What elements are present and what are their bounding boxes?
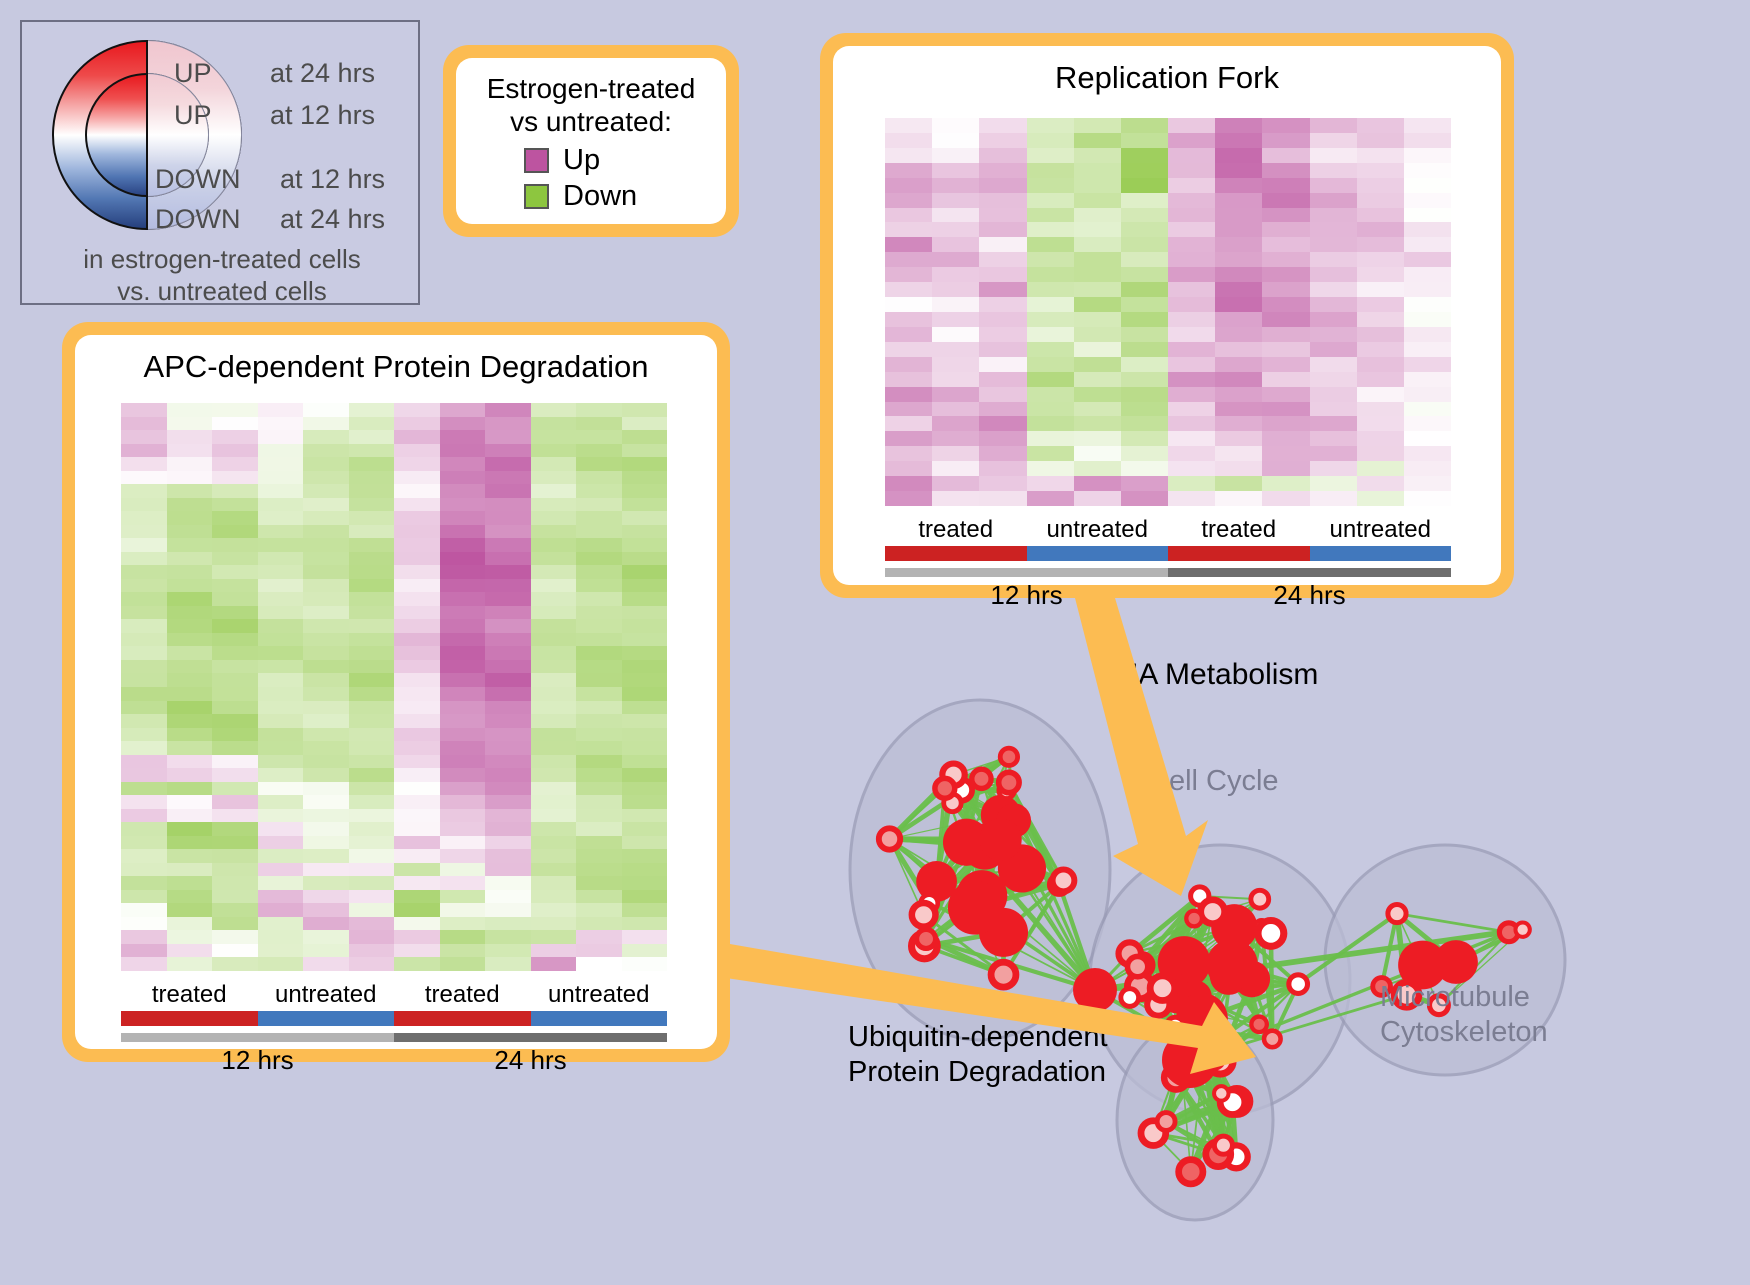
heatmap-cell	[622, 511, 668, 525]
heatmap-cell	[1310, 133, 1357, 148]
heatmap-cell	[1357, 222, 1404, 237]
axis-group-label-rf-1: untreated	[1027, 516, 1169, 544]
heatmap-cell	[258, 606, 304, 620]
legend-swatch-down-icon	[524, 184, 549, 209]
network-node	[1179, 1160, 1203, 1184]
heatmap-cell	[121, 619, 167, 633]
heatmap-cell	[1168, 178, 1215, 193]
axis-time-color-apc-1	[394, 1033, 667, 1042]
heatmap-cell	[394, 457, 440, 471]
heatmap-cell	[394, 930, 440, 944]
heatmap-cell	[576, 903, 622, 917]
heatmap-cell	[167, 552, 213, 566]
network-node	[1264, 1031, 1281, 1048]
heatmap-cell	[622, 484, 668, 498]
heatmap-cell	[622, 890, 668, 904]
heatmap-cell	[167, 471, 213, 485]
heatmap-cell	[1262, 461, 1309, 476]
heatmap-cell	[485, 525, 531, 539]
heatmap-cell	[440, 606, 486, 620]
heatmap-cell	[1215, 476, 1262, 491]
heatmap-cell	[121, 552, 167, 566]
heatmap-cell	[258, 511, 304, 525]
heatmap-cell	[394, 633, 440, 647]
heatmap-cell	[576, 592, 622, 606]
heatmap-cell	[932, 148, 979, 163]
heatmap-cell	[440, 957, 486, 971]
heatmap-cell	[167, 809, 213, 823]
heatmap-cell	[531, 606, 577, 620]
heatmap-cell	[303, 782, 349, 796]
heatmap-cell	[167, 592, 213, 606]
heatmap-cell	[303, 836, 349, 850]
heatmap-cell	[440, 471, 486, 485]
heatmap-cell	[303, 863, 349, 877]
heatmap-cell	[440, 660, 486, 674]
heatmap-cell	[167, 619, 213, 633]
heatmap-cell	[394, 619, 440, 633]
heatmap-cell	[622, 944, 668, 958]
heatmap-cell	[258, 525, 304, 539]
heatmap-cell	[885, 491, 932, 506]
legend-label-down: Down	[563, 180, 637, 213]
heatmap-cell	[303, 768, 349, 782]
heatmap-cell	[1357, 237, 1404, 252]
heatmap-cell	[303, 525, 349, 539]
heatmap-cell	[121, 822, 167, 836]
heatmap-cell	[576, 782, 622, 796]
heatmap-cell	[979, 297, 1026, 312]
heatmap-cell	[212, 619, 258, 633]
heatmap-cell	[622, 863, 668, 877]
heatmap-cell	[440, 930, 486, 944]
heatmap-cell	[167, 484, 213, 498]
heatmap-cell	[576, 863, 622, 877]
heatmap-cell	[485, 457, 531, 471]
heatmap-cell	[576, 619, 622, 633]
network-node	[912, 903, 936, 927]
heatmap-cell	[1215, 178, 1262, 193]
heatmap-cell	[885, 282, 932, 297]
heatmap-cell	[485, 917, 531, 931]
heatmap-cell	[1074, 416, 1121, 431]
heatmap-cell	[212, 768, 258, 782]
heatmap-cell	[485, 890, 531, 904]
heatmap-cell	[303, 403, 349, 417]
heatmap-cell	[349, 917, 395, 931]
heatmap-cell	[212, 660, 258, 674]
axis-time-labels-apc: 12 hrs 24 hrs	[121, 1045, 667, 1076]
heatmap-cell	[349, 755, 395, 769]
heatmap-cell	[1074, 282, 1121, 297]
heatmap-cell	[1074, 178, 1121, 193]
heatmap-cell	[1262, 387, 1309, 402]
heatmap-cell	[1027, 193, 1074, 208]
heatmap-cell	[576, 403, 622, 417]
heatmap-cell	[1357, 312, 1404, 327]
heatmap-cell	[167, 444, 213, 458]
heatmap-cell	[1357, 476, 1404, 491]
heatmap-cell	[1262, 267, 1309, 282]
heatmap-cell	[212, 471, 258, 485]
heatmap-cell	[394, 565, 440, 579]
heatmap-cell	[167, 795, 213, 809]
heatmap-cell	[1027, 178, 1074, 193]
heatmap-cell	[258, 917, 304, 931]
heatmap-cell	[1074, 402, 1121, 417]
network-node	[1162, 1032, 1218, 1088]
heatmap-cell	[167, 701, 213, 715]
heatmap-cell	[167, 903, 213, 917]
legend-title-line2: vs untreated:	[456, 105, 726, 138]
heatmap-cell	[932, 178, 979, 193]
heatmap-cell	[440, 863, 486, 877]
heatmap-cell	[1121, 297, 1168, 312]
heatmap-cell	[349, 525, 395, 539]
heatmap-cell	[1074, 461, 1121, 476]
heatmap-cell	[1074, 312, 1121, 327]
heatmap-cell	[622, 430, 668, 444]
heatmap-cell	[485, 552, 531, 566]
heatmap-cell	[1168, 372, 1215, 387]
heatmap-cell	[979, 163, 1026, 178]
network-node	[1186, 911, 1202, 927]
network-node	[1289, 975, 1308, 994]
heatmap-cell	[440, 809, 486, 823]
heatmap-cell	[212, 863, 258, 877]
heatmap-cell	[394, 552, 440, 566]
heatmap-cell	[440, 646, 486, 660]
heatmap-cell	[303, 809, 349, 823]
heatmap-cell	[1027, 148, 1074, 163]
heatmap-cell	[394, 484, 440, 498]
heatmap-cell	[485, 795, 531, 809]
heatmap-cell	[121, 471, 167, 485]
heatmap-cell	[979, 431, 1026, 446]
heatmap-cell	[576, 633, 622, 647]
heatmap-cell	[212, 741, 258, 755]
heatmap-cell	[212, 903, 258, 917]
heatmap-cell	[485, 619, 531, 633]
axis-time-color-rf-0	[885, 568, 1168, 577]
heatmap-cell	[212, 525, 258, 539]
heatmap-cell	[622, 687, 668, 701]
heatmap-cell	[167, 714, 213, 728]
heatmap-cell	[1121, 327, 1168, 342]
heatmap-cell	[349, 876, 395, 890]
heatmap-cell	[1074, 357, 1121, 372]
heatmap-cell	[1168, 133, 1215, 148]
heatmap-cell	[1215, 163, 1262, 178]
heatmap-cell	[576, 498, 622, 512]
network-node	[1127, 956, 1147, 976]
heatmap-cell	[1168, 416, 1215, 431]
figure-canvas: UP at 24 hrs UP at 12 hrs DOWN at 12 hrs…	[0, 0, 1750, 1279]
heatmap-cell	[531, 565, 577, 579]
heatmap-cell	[121, 565, 167, 579]
heatmap-cell	[1121, 446, 1168, 461]
heatmap-cell	[394, 701, 440, 715]
heatmap-cell	[258, 930, 304, 944]
axis-group-label-apc-2: treated	[394, 981, 531, 1009]
heatmap-cell	[303, 755, 349, 769]
network-node	[1251, 1017, 1266, 1032]
heatmap-cell	[1262, 193, 1309, 208]
heatmap-cell	[1404, 252, 1451, 267]
heatmap-cell	[1357, 267, 1404, 282]
axis-group-colorbar-rf	[885, 546, 1451, 561]
heatmap-cell	[258, 579, 304, 593]
heatmap-cell	[440, 903, 486, 917]
heatmap-cell	[622, 876, 668, 890]
heatmap-cell	[932, 252, 979, 267]
heatmap-cell	[979, 357, 1026, 372]
colorbar-footer-line2: vs. untreated cells	[22, 276, 422, 308]
heatmap-cell	[485, 782, 531, 796]
heatmap-cell	[576, 849, 622, 863]
heatmap-cell	[531, 741, 577, 755]
heatmap-cell	[394, 444, 440, 458]
heatmap-cell	[485, 417, 531, 431]
heatmap-cell	[485, 592, 531, 606]
heatmap-cell	[622, 768, 668, 782]
heatmap-cell	[622, 957, 668, 971]
heatmap-cell	[349, 822, 395, 836]
heatmap-cell	[885, 327, 932, 342]
heatmap-cell	[258, 755, 304, 769]
heatmap-cell	[258, 538, 304, 552]
heatmap-cell	[576, 606, 622, 620]
heatmap-cell	[258, 836, 304, 850]
legend-title-line1: Estrogen-treated	[456, 72, 726, 105]
heatmap-cell	[885, 118, 932, 133]
heatmap-cell	[349, 660, 395, 674]
heatmap-cell	[622, 822, 668, 836]
legend-time-down-12: at 12 hrs	[280, 164, 385, 195]
heatmap-cell	[932, 491, 979, 506]
heatmap-cell	[394, 511, 440, 525]
heatmap-cell	[1310, 297, 1357, 312]
heatmap-cell	[212, 403, 258, 417]
heatmap-cell	[167, 836, 213, 850]
heatmap-cell	[1357, 446, 1404, 461]
heatmap-cell	[1404, 446, 1451, 461]
heatmap-cell	[576, 646, 622, 660]
heatmap-cell	[1074, 446, 1121, 461]
axis-group-label-apc-3: untreated	[531, 981, 668, 1009]
heatmap-cell	[531, 403, 577, 417]
heatmap-cell	[1121, 372, 1168, 387]
heatmap-cell	[1404, 118, 1451, 133]
heatmap-cell	[885, 208, 932, 223]
heatmap-cell	[440, 430, 486, 444]
heatmap-cell	[1262, 342, 1309, 357]
heatmap-cell	[1310, 387, 1357, 402]
heatmap-cell	[212, 457, 258, 471]
heatmap-cell	[1215, 267, 1262, 282]
heatmap-replication-fork	[885, 118, 1451, 506]
heatmap-cell	[349, 552, 395, 566]
network-node	[1515, 922, 1529, 936]
heatmap-cell	[885, 237, 932, 252]
heatmap-cell	[1310, 163, 1357, 178]
heatmap-cell	[531, 484, 577, 498]
heatmap-cell	[1310, 446, 1357, 461]
heatmap-cell	[258, 660, 304, 674]
network-svg	[790, 620, 1750, 1280]
heatmap-cell	[576, 525, 622, 539]
heatmap-cell	[1121, 193, 1168, 208]
heatmap-cell	[622, 525, 668, 539]
legend-direction-down-12: DOWN	[155, 164, 240, 195]
heatmap-cell	[576, 471, 622, 485]
heatmap-cell	[212, 552, 258, 566]
heatmap-cell	[440, 728, 486, 742]
heatmap-cell	[349, 417, 395, 431]
heatmap-cell	[303, 930, 349, 944]
heatmap-cell	[1310, 476, 1357, 491]
heatmap-cell	[1357, 193, 1404, 208]
heatmap-cell	[1262, 476, 1309, 491]
heatmap-cell	[576, 444, 622, 458]
heatmap-cell	[212, 849, 258, 863]
heatmap-cell	[1168, 208, 1215, 223]
heatmap-cell	[1074, 342, 1121, 357]
axis-group-color-rf-3	[1310, 546, 1452, 561]
heatmap-cell	[1121, 357, 1168, 372]
heatmap-cell	[885, 163, 932, 178]
heatmap-cell	[1027, 416, 1074, 431]
network-node	[917, 929, 936, 948]
heatmap-cell	[485, 673, 531, 687]
network-node	[1121, 989, 1139, 1007]
heatmap-cell	[258, 417, 304, 431]
heatmap-cell	[167, 687, 213, 701]
heatmap-cell	[121, 525, 167, 539]
axis-time-color-rf-1	[1168, 568, 1451, 577]
heatmap-cell	[1074, 193, 1121, 208]
heatmap-cell	[258, 498, 304, 512]
heatmap-cell	[1357, 431, 1404, 446]
heatmap-cell	[885, 267, 932, 282]
heatmap-cell	[1262, 178, 1309, 193]
heatmap-cell	[1357, 252, 1404, 267]
heatmap-cell	[167, 606, 213, 620]
heatmap-cell	[212, 714, 258, 728]
heatmap-cell	[1215, 431, 1262, 446]
heatmap-cell	[394, 606, 440, 620]
heatmap-cell	[349, 538, 395, 552]
heatmap-cell	[1357, 297, 1404, 312]
heatmap-cell	[303, 822, 349, 836]
heatmap-cell	[121, 903, 167, 917]
heatmap-cell	[576, 552, 622, 566]
heatmap-cell	[1121, 118, 1168, 133]
heatmap-cell	[303, 673, 349, 687]
heatmap-cell	[1168, 193, 1215, 208]
heatmap-cell	[394, 741, 440, 755]
heatmap-cell	[932, 163, 979, 178]
heatmap-cell	[622, 917, 668, 931]
heatmap-cell	[167, 565, 213, 579]
heatmap-cell	[394, 538, 440, 552]
heatmap-cell	[394, 403, 440, 417]
heatmap-cell	[1121, 387, 1168, 402]
heatmap-cell	[485, 606, 531, 620]
heatmap-cell	[349, 592, 395, 606]
heatmap-cell	[349, 471, 395, 485]
heatmap-cell	[440, 552, 486, 566]
heatmap-cell	[1074, 163, 1121, 178]
heatmap-cell	[622, 660, 668, 674]
heatmap-cell	[1168, 461, 1215, 476]
heatmap-cell	[1262, 252, 1309, 267]
heatmap-cell	[531, 673, 577, 687]
heatmap-cell	[1404, 193, 1451, 208]
heatmap-cell	[1168, 476, 1215, 491]
heatmap-cell	[1121, 431, 1168, 446]
heatmap-cell	[349, 673, 395, 687]
heatmap-cell	[167, 660, 213, 674]
heatmap-cell	[576, 944, 622, 958]
heatmap-cell	[212, 782, 258, 796]
heatmap-cell	[1027, 476, 1074, 491]
heatmap-cell	[303, 511, 349, 525]
heatmap-cell	[440, 417, 486, 431]
heatmap-cell	[394, 592, 440, 606]
heatmap-cell	[531, 944, 577, 958]
heatmap-cell	[212, 930, 258, 944]
heatmap-cell	[531, 417, 577, 431]
heatmap-cell	[303, 565, 349, 579]
network-node	[1258, 920, 1284, 946]
heatmap-cell	[121, 579, 167, 593]
heatmap-cell	[349, 957, 395, 971]
network-node	[1214, 1136, 1232, 1154]
heatmap-cell	[258, 403, 304, 417]
heatmap-cell	[303, 619, 349, 633]
heatmap-cell	[349, 633, 395, 647]
heatmap-cell	[1262, 237, 1309, 252]
heatmap-cell	[1121, 222, 1168, 237]
heatmap-cell	[167, 511, 213, 525]
heatmap-cell	[1027, 297, 1074, 312]
heatmap-cell	[576, 417, 622, 431]
heatmap-cell	[1262, 282, 1309, 297]
heatmap-cell	[212, 795, 258, 809]
heatmap-cell	[885, 312, 932, 327]
heatmap-cell	[622, 673, 668, 687]
axis-time-bar-apc	[121, 1033, 667, 1042]
heatmap-cell	[1027, 446, 1074, 461]
heatmap-cell	[1121, 491, 1168, 506]
heatmap-cell	[440, 673, 486, 687]
heatmap-cell	[349, 741, 395, 755]
heatmap-cell	[258, 944, 304, 958]
heatmap-cell	[1310, 461, 1357, 476]
heatmap-cell	[440, 525, 486, 539]
heatmap-cell	[1262, 327, 1309, 342]
heatmap-cell	[1404, 133, 1451, 148]
heatmap-cell	[1310, 178, 1357, 193]
heatmap-cell	[349, 619, 395, 633]
heatmap-cell	[440, 538, 486, 552]
heatmap-cell	[212, 944, 258, 958]
heatmap-cell	[531, 863, 577, 877]
heatmap-cell	[1121, 252, 1168, 267]
axis-time-color-apc-0	[121, 1033, 394, 1042]
heatmap-cell	[1357, 163, 1404, 178]
